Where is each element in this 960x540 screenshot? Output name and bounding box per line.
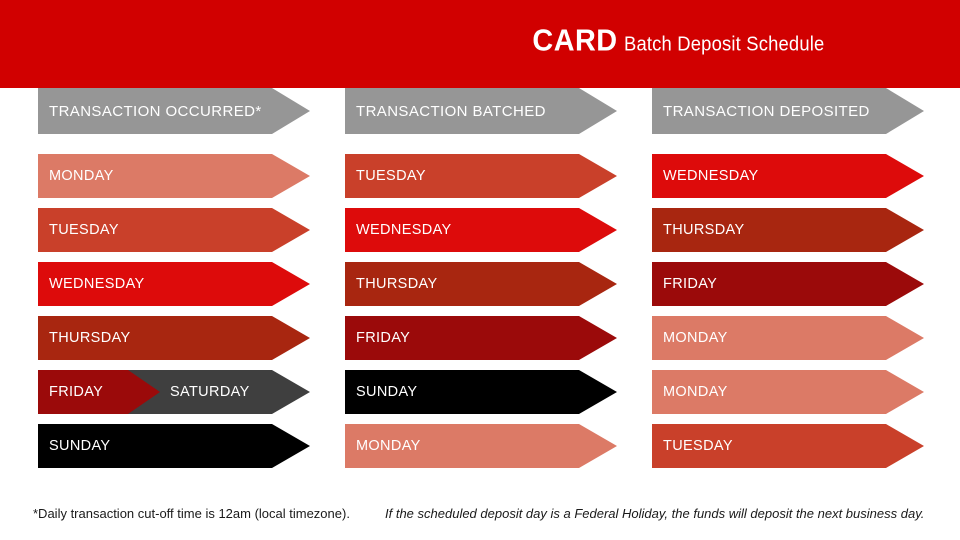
brand-name: CARD	[532, 25, 617, 56]
day-chevron-wednesday: WEDNESDAY	[345, 208, 617, 252]
day-chevron-tuesday: TUESDAY	[38, 208, 310, 252]
day-chevron-thursday: THURSDAY	[38, 316, 310, 360]
header-band: CARDBatch Deposit Schedule	[0, 0, 960, 88]
day-chevron-thursday: THURSDAY	[345, 262, 617, 306]
day-chevron-tuesday: TUESDAY	[345, 154, 617, 198]
schedule-board: TRANSACTION OCCURRED*MONDAYTUESDAYWEDNES…	[0, 88, 960, 488]
footnotes: *Daily transaction cut-off time is 12am …	[0, 500, 960, 540]
day-chevron-friday: FRIDAY	[652, 262, 924, 306]
day-chevron-sunday: SUNDAY	[38, 424, 310, 468]
footnote-cutoff: *Daily transaction cut-off time is 12am …	[33, 506, 350, 521]
column-header-transaction-batched: TRANSACTION BATCHED	[345, 88, 617, 134]
day-chevron-thursday: THURSDAY	[652, 208, 924, 252]
day-chevron-wednesday: WEDNESDAY	[38, 262, 310, 306]
day-chevron-friday: FRIDAY	[345, 316, 617, 360]
page-subtitle: Batch Deposit Schedule	[624, 35, 824, 55]
column-transaction-occurred: TRANSACTION OCCURRED*MONDAYTUESDAYWEDNES…	[38, 88, 310, 468]
footnote-federal-holiday: If the scheduled deposit day is a Federa…	[385, 506, 924, 521]
day-chevron-sunday: SUNDAY	[345, 370, 617, 414]
column-transaction-deposited: TRANSACTION DEPOSITEDWEDNESDAYTHURSDAYFR…	[652, 88, 924, 468]
day-chevron-tuesday: TUESDAY	[652, 424, 924, 468]
schedule-row-split: SATURDAYFRIDAY	[38, 370, 310, 414]
day-chevron-monday: MONDAY	[652, 316, 924, 360]
page-title: CARDBatch Deposit Schedule	[526, 25, 842, 56]
column-header-transaction-occurred: TRANSACTION OCCURRED*	[38, 88, 310, 134]
day-chevron-wednesday: WEDNESDAY	[652, 154, 924, 198]
day-chevron-monday: MONDAY	[345, 424, 617, 468]
column-transaction-batched: TRANSACTION BATCHEDTUESDAYWEDNESDAYTHURS…	[345, 88, 617, 468]
column-header-transaction-deposited: TRANSACTION DEPOSITED	[652, 88, 924, 134]
day-chevron-monday: MONDAY	[652, 370, 924, 414]
day-chevron-monday: MONDAY	[38, 154, 310, 198]
